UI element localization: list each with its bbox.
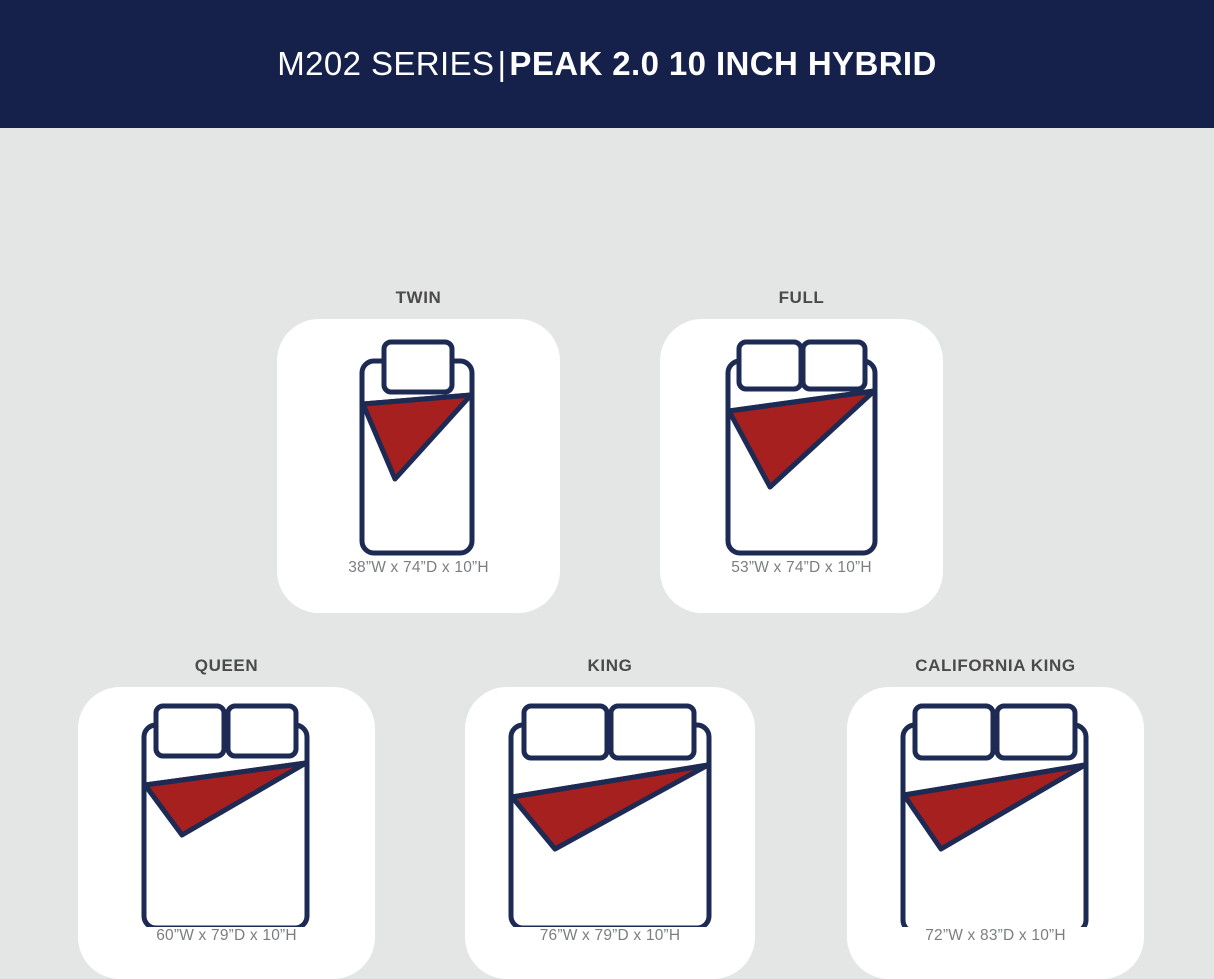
size-card-full[interactable]: 53”W x 74”D x 10”H [660, 319, 943, 613]
bed-full-icon [660, 319, 943, 559]
size-cell-queen: QUEEN 60”W x 79”D x 10”H [78, 656, 375, 979]
size-dimensions-queen: 60”W x 79”D x 10”H [156, 927, 297, 945]
size-cell-king: KING 76”W x 79”D x 10”H [465, 656, 755, 979]
size-dimensions-full: 53”W x 74”D x 10”H [731, 559, 872, 577]
bed-california-king-icon [847, 687, 1144, 927]
size-grid: TWIN 38”W x 74”D x 10”H FULL [0, 128, 1214, 911]
page-title: M202 SERIES | PEAK 2.0 10 INCH HYBRID [277, 45, 936, 83]
size-label-california-king: CALIFORNIA KING [915, 656, 1075, 676]
size-label-king: KING [588, 656, 633, 676]
bed-queen-icon [78, 687, 375, 927]
size-dimensions-king: 76”W x 79”D x 10”H [540, 927, 681, 945]
title-series: M202 SERIES [277, 45, 494, 83]
bed-twin-icon [277, 319, 560, 559]
size-card-california-king[interactable]: 72”W x 83”D x 10”H [847, 687, 1144, 979]
title-model: PEAK 2.0 10 INCH HYBRID [509, 45, 936, 83]
size-label-queen: QUEEN [195, 656, 258, 676]
size-card-king[interactable]: 76”W x 79”D x 10”H [465, 687, 755, 979]
size-dimensions-california-king: 72”W x 83”D x 10”H [925, 927, 1066, 945]
size-dimensions-twin: 38”W x 74”D x 10”H [348, 559, 489, 577]
bed-king-icon [465, 687, 755, 927]
title-separator: | [494, 45, 509, 83]
header-bar: M202 SERIES | PEAK 2.0 10 INCH HYBRID [0, 0, 1214, 128]
size-cell-twin: TWIN 38”W x 74”D x 10”H [277, 288, 560, 613]
size-cell-full: FULL 53”W x 74”D x 10”H [660, 288, 943, 613]
size-card-queen[interactable]: 60”W x 79”D x 10”H [78, 687, 375, 979]
size-label-twin: TWIN [396, 288, 442, 308]
size-cell-california-king: CALIFORNIA KING 72”W x 83”D x 10”H [847, 656, 1144, 979]
size-card-twin[interactable]: 38”W x 74”D x 10”H [277, 319, 560, 613]
size-label-full: FULL [779, 288, 825, 308]
